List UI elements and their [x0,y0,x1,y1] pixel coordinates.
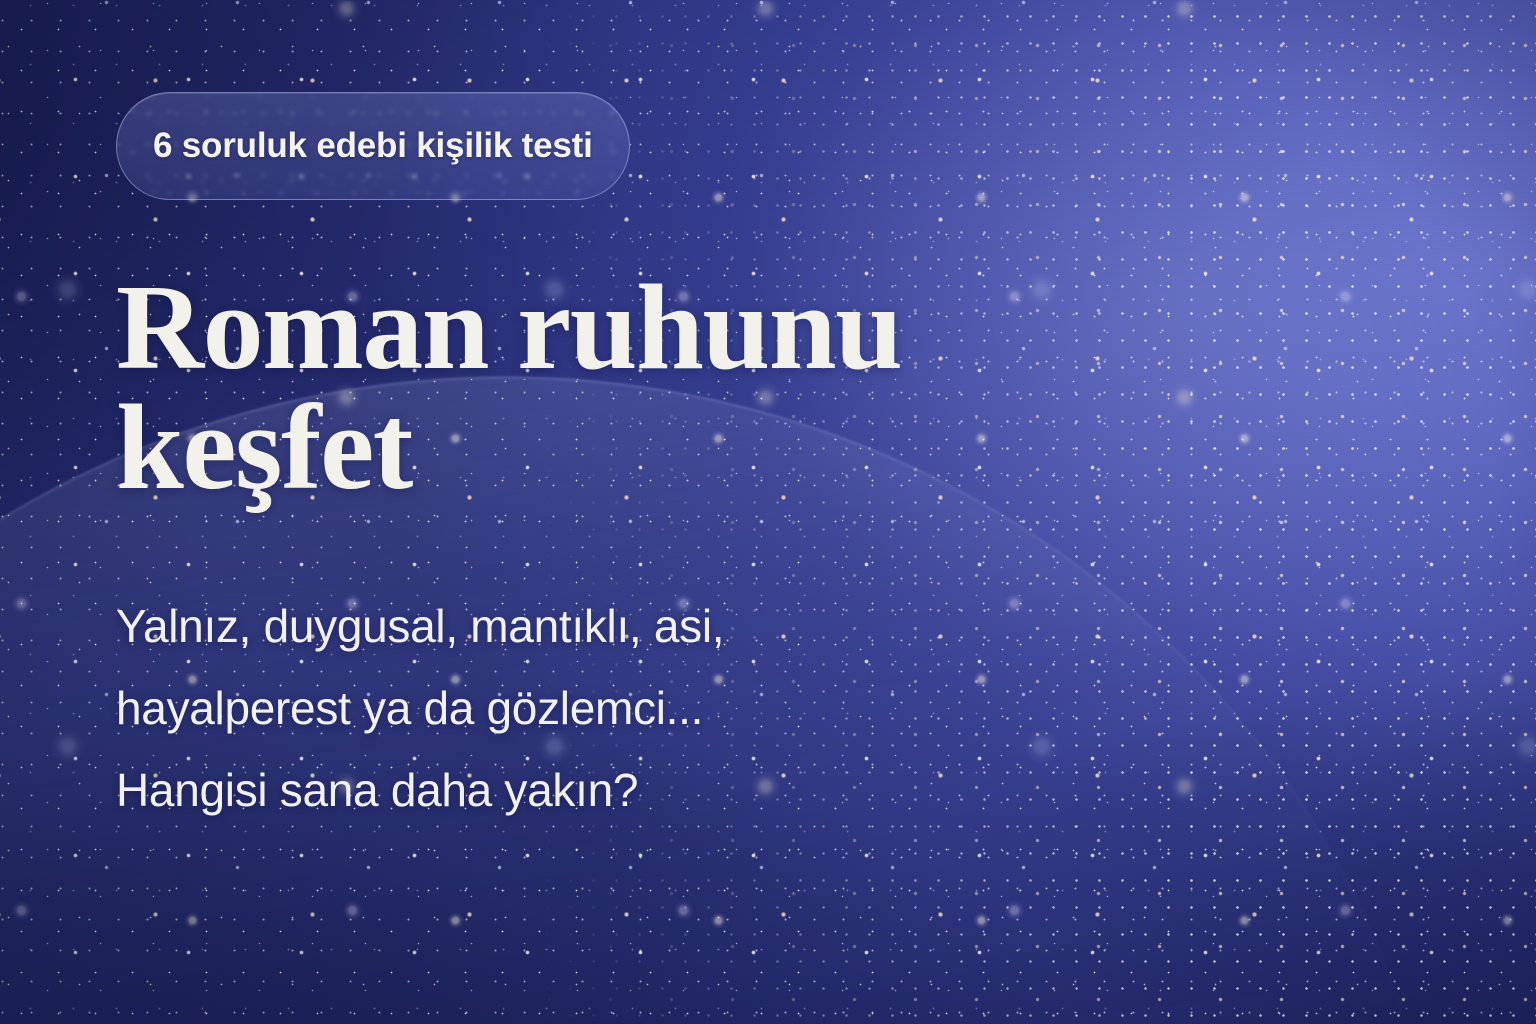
quiz-length-badge-label: 6 soruluk edebi kişilik testi [153,126,593,166]
poster-content: 6 soruluk edebi kişilik testi Roman ruhu… [116,0,1116,1024]
poster-canvas: 6 soruluk edebi kişilik testi Roman ruhu… [0,0,1536,1024]
quiz-length-badge[interactable]: 6 soruluk edebi kişilik testi [116,92,630,200]
page-subtitle: Yalnız, duygusal, mantıklı, asi, hayalpe… [116,586,724,832]
page-title: Roman ruhunu keşfet [116,268,901,507]
